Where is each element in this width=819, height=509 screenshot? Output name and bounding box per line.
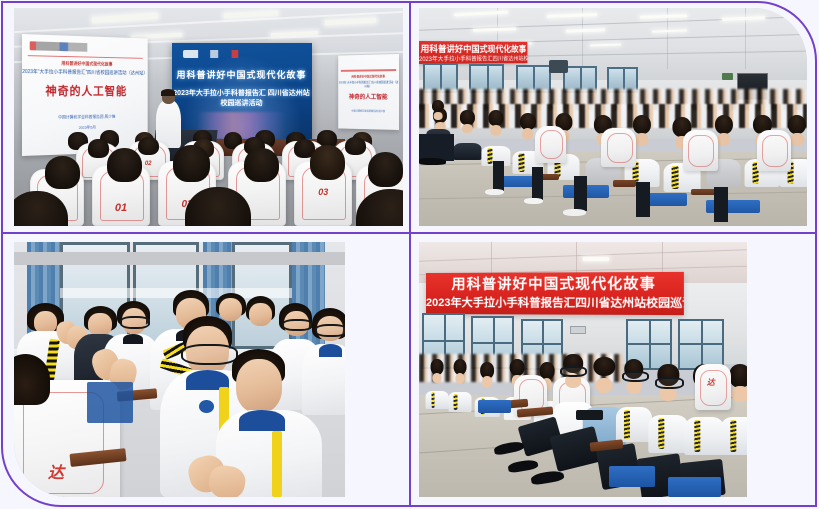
uniform-yellow-stripe <box>272 431 282 497</box>
window-header-beam <box>14 252 345 265</box>
student-shoe <box>563 209 586 216</box>
student <box>481 110 510 162</box>
student-legs <box>714 187 728 222</box>
photo-cell-top-right[interactable]: 用科普讲好中国式现代化故事 2023年大手拉小手科普报告汇四川省达州站校园巡讲活… <box>419 8 807 226</box>
wall-speaker <box>549 60 568 73</box>
seat-number: 01 <box>92 202 150 214</box>
seat-base <box>478 400 511 413</box>
student-legs <box>636 182 650 217</box>
slide-logo <box>30 42 101 52</box>
led-wall: 用科普讲好中国式现代化故事 2023年大手拉小手科普报告汇 四川省达州站校园巡讲… <box>172 43 312 141</box>
slide-subtitle: 2023年“大手拉小手科普报告汇”四川省校园巡讲活动（达州站） <box>22 68 148 76</box>
audience-head <box>45 156 80 189</box>
slide-footer: 中国计算机学会科普报告团 周少锋 <box>22 113 148 120</box>
event-banner: 用科普讲好中国式现代化故事 2023年大手拉小手科普报告汇四川省达州站校园巡讲活… <box>419 41 528 64</box>
ceiling-grid-line <box>582 8 583 69</box>
led-line-2: 2023年大手拉小手科普报告汇 四川省达州站校园巡讲活动 <box>172 88 312 108</box>
banner-line-1: 用科普讲好中国式现代化故事 <box>426 272 684 293</box>
student <box>426 359 449 410</box>
speaker-hair <box>161 89 175 96</box>
slide-headline: 神奇的人工智能 <box>338 92 399 101</box>
slide-headline: 神奇的人工智能 <box>22 82 148 99</box>
event-banner: 用科普讲好中国式现代化故事 2023年大手拉小手科普报告汇四川省达州站校园巡讲活… <box>426 271 684 314</box>
auditorium-seat <box>683 130 718 171</box>
adult-shoe <box>419 158 446 165</box>
student-legs <box>574 176 587 211</box>
led-logo <box>183 50 250 58</box>
seat-mark: 达 <box>707 377 715 388</box>
slide-header: 用科普讲好中国式现代化故事 <box>22 60 148 68</box>
student <box>449 359 472 413</box>
photo-top-right[interactable]: 用科普讲好中国式现代化故事 2023年大手拉小手科普报告汇四川省达州站校园巡讲活… <box>419 8 807 226</box>
uniform-collar <box>239 410 285 430</box>
hall-window <box>678 319 724 370</box>
glasses-icon <box>120 316 150 329</box>
glasses-icon <box>655 377 684 389</box>
projection-screen-right: 用科普讲好中国式现代化故事 2023年“大手拉小手科普报告汇”四川省校园巡讲活动… <box>338 54 399 130</box>
photo-cell-top-left[interactable]: 用科普讲好中国式现代化故事 2023年“大手拉小手科普报告汇”四川省校园巡讲活动… <box>14 8 403 226</box>
audience-head <box>310 145 345 180</box>
audience-head <box>173 145 210 182</box>
student <box>454 110 481 158</box>
seat-armrest <box>613 180 636 187</box>
audience-head <box>244 148 279 183</box>
glasses-icon <box>181 344 238 365</box>
photo-cell-bottom-left[interactable]: 达 <box>14 242 345 497</box>
collage-root: 用科普讲好中国式现代化故事 2023年“大手拉小手科普报告汇”四川省校园巡讲活动… <box>0 0 819 509</box>
wall-plaque <box>570 326 586 334</box>
photo-bottom-right[interactable]: 用科普讲好中国式现代化故事 2023年大手拉小手科普报告汇四川省达州站校园巡讲活… <box>419 242 747 497</box>
student-face <box>88 313 111 336</box>
grid-divider-vertical <box>409 1 411 507</box>
speaker-body <box>156 100 181 148</box>
student-shoe <box>524 198 543 205</box>
seat-mark: 达 <box>48 459 64 483</box>
student-face <box>249 303 272 326</box>
glasses-icon <box>315 324 345 337</box>
adult-legs <box>419 134 454 160</box>
student-face <box>236 359 282 413</box>
seat-number: 03 <box>294 187 352 197</box>
auditorium-seat <box>601 128 636 167</box>
audience-head <box>138 137 159 156</box>
banner-line-2: 2023年大手拉小手科普报告汇四川省达州站校园巡讲活动 <box>419 53 528 62</box>
seat-base <box>609 466 655 486</box>
student-legs <box>493 161 505 192</box>
slide-header: 用科普讲好中国式现代化故事 <box>338 74 399 79</box>
auditorium-seat <box>757 130 792 171</box>
audience-head <box>368 152 403 187</box>
glasses-icon <box>622 371 649 382</box>
slide-subtitle: 2023年“大手拉小手科普报告汇”四川省校园巡讲活动（达州站） <box>338 80 399 88</box>
glasses-icon <box>282 319 312 332</box>
auditorium-seat <box>535 126 566 163</box>
photo-cell-bottom-right[interactable]: 用科普讲好中国式现代化故事 2023年大手拉小手科普报告汇四川省达州站校园巡讲活… <box>419 242 747 497</box>
slide-date: 2023年5月 <box>22 123 148 131</box>
student-face <box>219 298 242 321</box>
audience-head <box>345 137 366 156</box>
slide-rule <box>341 69 397 71</box>
handheld-device <box>576 410 602 420</box>
uniform-collar <box>319 344 342 357</box>
audience-head <box>107 148 142 183</box>
seat-base <box>87 382 133 423</box>
photo-top-left[interactable]: 用科普讲好中国式现代化故事 2023年“大手拉小手科普报告汇”四川省校园巡讲活动… <box>14 8 403 226</box>
slide-footer: 中国计算机学会科普报告团 周少锋 <box>338 108 399 113</box>
audience-head <box>88 139 109 158</box>
student-legs <box>532 167 544 200</box>
banner-line-2: 2023年大手拉小手科普报告汇四川省达州站校园巡讲活动 <box>426 294 684 311</box>
exit-sign <box>722 73 734 80</box>
auditorium-seat: 达 <box>695 364 731 410</box>
uniform-collar <box>123 334 143 344</box>
grid-divider-horizontal <box>1 232 817 234</box>
slide-rule <box>27 55 143 59</box>
school-badge <box>199 400 214 413</box>
led-line-1: 用科普讲好中国式现代化故事 <box>172 68 312 81</box>
photo-bottom-left[interactable]: 达 <box>14 242 345 497</box>
seat-base <box>668 477 720 497</box>
ceiling-light <box>583 257 609 261</box>
